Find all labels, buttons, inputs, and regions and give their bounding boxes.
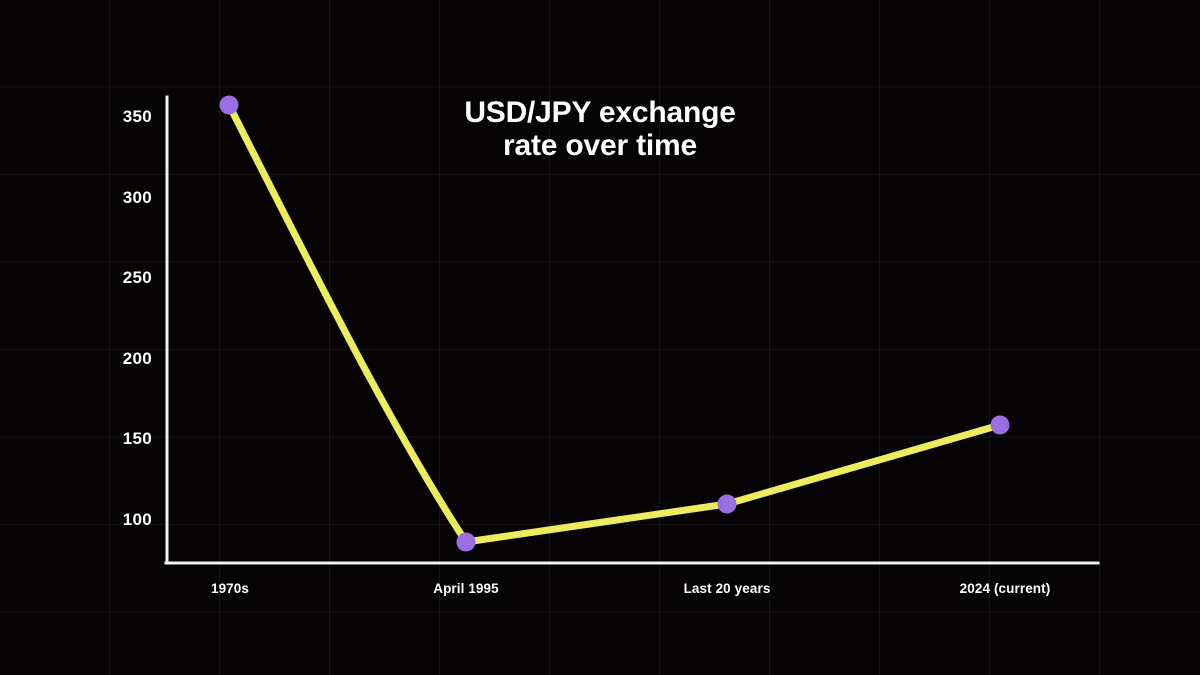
y-axis-tick-labels: 350 300 250 200 150 100 (74, 0, 152, 675)
data-point-marker[interactable] (220, 96, 239, 115)
data-point-marker[interactable] (457, 533, 476, 552)
y-tick-label: 350 (80, 107, 152, 127)
data-point-marker[interactable] (991, 416, 1010, 435)
chart-title-line-1: USD/JPY exchange (464, 96, 735, 129)
chart-title-line-2: rate over time (503, 129, 697, 162)
chart-title: USD/JPY exchangerate over time (300, 96, 900, 162)
x-tick-label: April 1995 (356, 581, 576, 596)
y-tick-label: 300 (80, 188, 152, 208)
data-point-marker[interactable] (718, 495, 737, 514)
x-tick-label: Last 20 years (617, 581, 837, 596)
y-tick-label: 150 (80, 429, 152, 449)
series-line-usd-jpy (229, 105, 1000, 542)
y-tick-label: 100 (80, 510, 152, 530)
y-tick-label: 250 (80, 268, 152, 288)
chart-canvas: USD/JPY exchangerate over time 350 300 2… (0, 0, 1200, 675)
x-tick-label: 2024 (current) (895, 581, 1115, 596)
x-tick-label: 1970s (120, 581, 340, 596)
y-tick-label: 200 (80, 349, 152, 369)
